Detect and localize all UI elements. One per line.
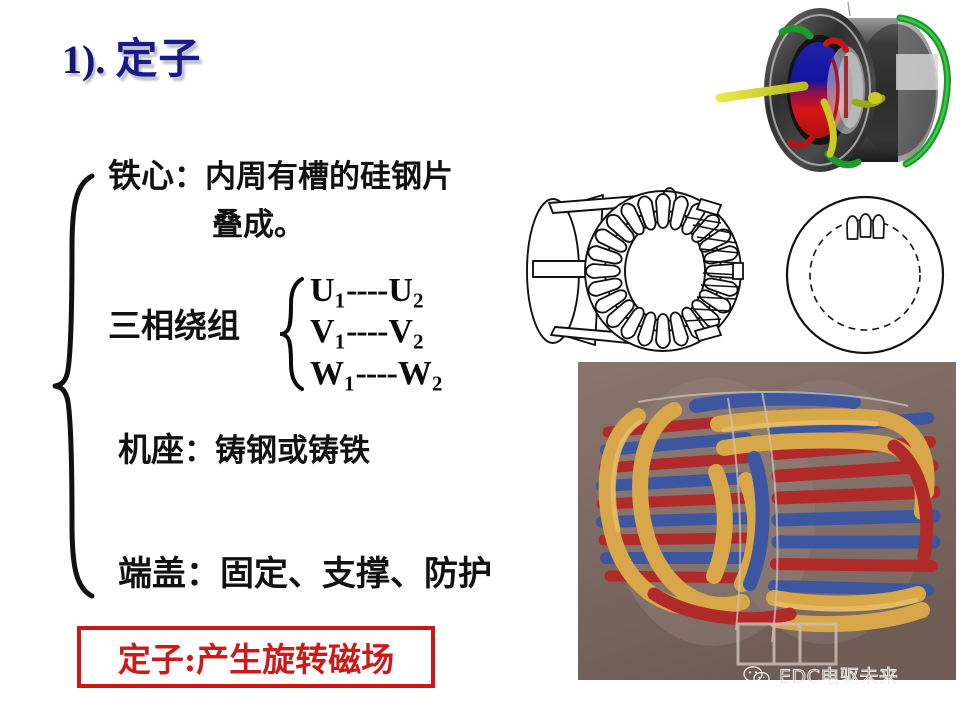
callout-box: 定子:产生旋转磁场 (77, 626, 435, 688)
winding-u1-sub: 1 (335, 289, 346, 313)
outline-item-iron-core: 铁心：内周有槽的硅钢片 (108, 158, 453, 195)
end-cover-lead: 端盖 (118, 554, 186, 594)
slide-canvas: 1).定子 铁心：内周有槽的硅钢片 叠成。 三相绕组 U1----U2 V1--… (0, 0, 960, 720)
iron-core-colon: ： (174, 159, 205, 195)
title-number: 1). (62, 37, 105, 82)
end-ring-line-drawing-figure (775, 183, 955, 363)
winding-equation-row: W1----W2 (310, 355, 442, 396)
winding-v2-sub: 2 (413, 330, 424, 354)
watermark-text: EDC电驱未来 (779, 662, 898, 689)
wechat-icon (742, 665, 772, 687)
winding-v1-letter: V (310, 313, 335, 350)
winding-w2-letter: W (398, 355, 432, 392)
winding-v1-sub: 1 (335, 330, 346, 354)
equation-curly-brace-icon (280, 276, 306, 392)
winding-u2-letter: U (388, 272, 413, 309)
winding-photo-figure (578, 362, 956, 680)
page-title: 1).定子 (62, 38, 201, 80)
winding-w2-sub: 2 (432, 371, 443, 395)
outline-item-frame: 机座：铸钢或铸铁 (118, 432, 370, 469)
winding-w1-letter: W (310, 355, 344, 392)
frame-body: 铸钢或铸铁 (215, 433, 370, 469)
outline-item-end-cover: 端盖：固定、支撑、防护 (118, 555, 492, 593)
winding-equation-row: V1----V2 (310, 313, 442, 354)
frame-colon: ： (184, 433, 215, 469)
iron-core-body-2: 叠成。 (212, 207, 305, 243)
winding-equation-group: U1----U2 V1----V2 W1----W2 (280, 272, 442, 396)
end-cover-body: 固定、支撑、防护 (220, 554, 492, 594)
winding-u-dashes: ---- (345, 272, 388, 309)
winding-equation-row: U1----U2 (310, 272, 442, 313)
outline-item-iron-core-cont: 叠成。 (212, 208, 305, 243)
winding-w1-sub: 1 (344, 371, 355, 395)
outline-item-three-phase-winding: 三相绕组 (108, 308, 240, 345)
winding-u1-letter: U (310, 272, 335, 309)
motor-3d-render-figure (700, 2, 958, 178)
watermark: EDC电驱未来 (742, 662, 898, 689)
three-phase-winding-lead: 三相绕组 (108, 306, 240, 345)
winding-u2-sub: 2 (413, 289, 424, 313)
end-cover-colon: ： (186, 554, 220, 594)
stator-core-line-drawing-figure (515, 183, 755, 363)
iron-core-body-1: 内周有槽的硅钢片 (205, 159, 453, 195)
iron-core-lead: 铁心 (108, 156, 174, 195)
left-curly-brace-icon (52, 172, 98, 600)
frame-lead: 机座 (118, 430, 184, 469)
callout-text: 定子:产生旋转磁场 (118, 633, 394, 681)
title-text: 定子 (115, 34, 201, 83)
winding-v-dashes: ---- (345, 313, 388, 350)
winding-w-dashes: ---- (355, 355, 398, 392)
winding-v2-letter: V (388, 313, 413, 350)
